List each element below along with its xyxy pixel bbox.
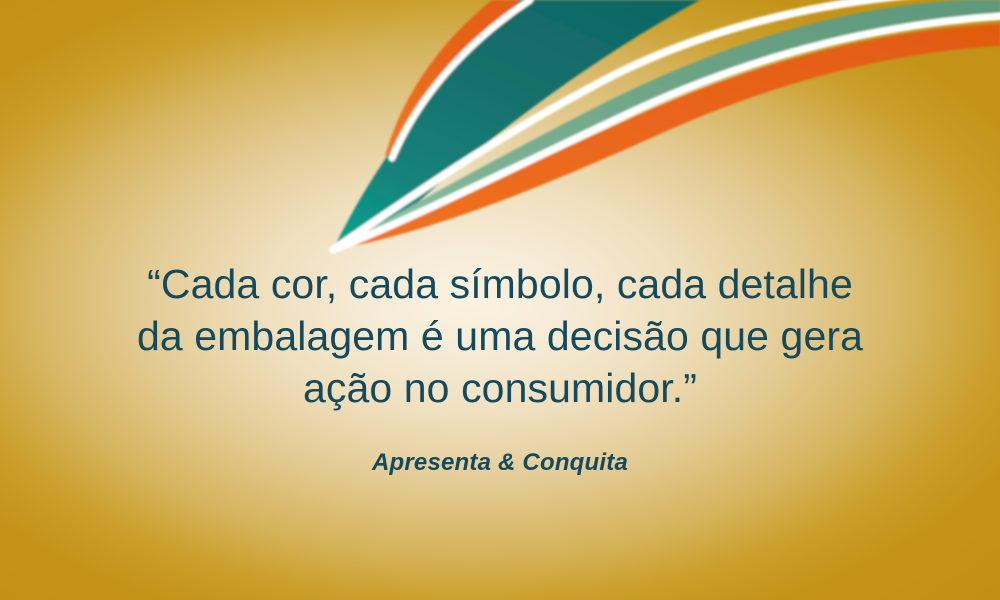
- quote-line-1: “Cada cor, cada símbolo, cada detalhe: [0, 258, 1000, 310]
- quote-line-3: ação no consumidor.”: [0, 362, 1000, 414]
- slide-canvas: “Cada cor, cada símbolo, cada detalhe da…: [0, 0, 1000, 600]
- attribution-text: Apresenta & Conquita: [0, 448, 1000, 478]
- quote-text: “Cada cor, cada símbolo, cada detalhe da…: [0, 258, 1000, 414]
- quote-line-2: da embalagem é uma decisão que gera: [0, 310, 1000, 362]
